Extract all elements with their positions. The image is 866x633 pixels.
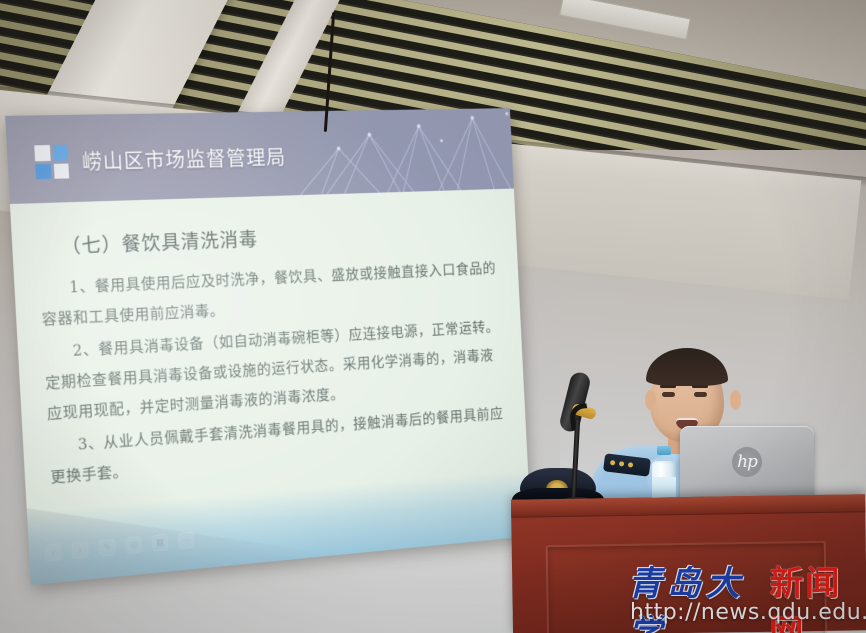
slide-surface: 崂山区市场监督管理局 （七）餐饮具清洗消毒 1、餐用具使用后应及时洗净，餐饮具、… — [5, 108, 531, 585]
network-nodes-icon — [287, 108, 514, 195]
speaker-hair — [646, 348, 728, 386]
hp-logo: hp — [732, 447, 762, 477]
slide-header-band: 崂山区市场监督管理局 — [5, 108, 514, 204]
eye-right — [694, 392, 707, 397]
watermark-url: http://news.qdu.edu.cn — [630, 600, 866, 625]
ear-right — [730, 390, 741, 410]
eye-left — [662, 392, 675, 397]
photo-scene: 崂山区市场监督管理局 （七）餐饮具清洗消毒 1、餐用具使用后应及时洗净，餐饮具、… — [0, 0, 866, 633]
slide-org-name: 崂山区市场监督管理局 — [81, 142, 287, 176]
ear-left — [645, 390, 656, 410]
eyebrow-left — [660, 385, 676, 388]
hp-laptop: hp — [680, 426, 814, 504]
slide-section-title: （七）餐饮具清洗消毒 — [60, 215, 495, 259]
projection-screen: 崂山区市场监督管理局 （七）餐饮具清洗消毒 1、餐用具使用后应及时洗净，餐饮具、… — [5, 108, 531, 585]
slide-body: （七）餐饮具清洗消毒 1、餐用具使用后应及时洗净，餐饮具、盛放或接触直接入口食品… — [10, 189, 528, 514]
laptop-lid: hp — [680, 426, 814, 504]
eyebrow-right — [692, 385, 708, 388]
watermark: 青岛大学 新闻网 http://news.qdu.edu.cn — [628, 556, 866, 628]
four-square-logo — [34, 145, 69, 180]
